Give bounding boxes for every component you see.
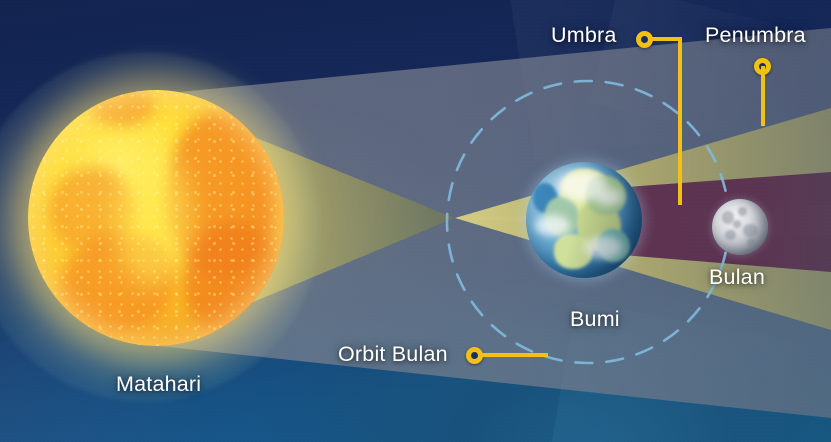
label-bumi: Bumi [570,307,620,332]
label-penumbra: Penumbra [705,23,806,48]
umbra-leader-vertical [678,37,682,205]
body-bulan [712,199,768,255]
body-bumi [526,162,642,278]
sun-limb [28,90,284,346]
label-bulan: Bulan [709,265,765,290]
body-matahari [28,90,284,346]
orbit-leader-horizontal [480,353,548,357]
label-matahari: Matahari [116,372,201,397]
penumbra-leader-vertical [761,66,765,126]
label-umbra: Umbra [551,23,617,48]
label-orbit-bulan: Orbit Bulan [338,342,448,367]
lunar-eclipse-diagram: Umbra Penumbra Orbit Bulan Bulan Bumi Ma… [0,0,831,442]
